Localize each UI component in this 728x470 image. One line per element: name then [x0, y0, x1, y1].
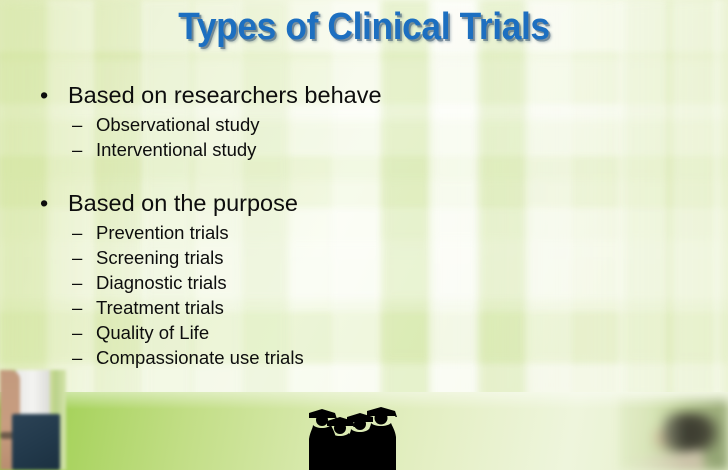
dash-icon: – — [72, 270, 82, 295]
bullet-level1-label: Based on researchers behave — [68, 82, 382, 108]
dash-icon: – — [72, 112, 82, 137]
slide: Types of Clinical Trials • Based on rese… — [0, 0, 728, 470]
dash-icon: – — [72, 137, 82, 162]
dash-icon: – — [72, 220, 82, 245]
graduates-silhouette — [305, 392, 415, 470]
bullet-level2: – Compassionate use trials — [0, 345, 560, 370]
bullet-dot-icon: • — [40, 188, 48, 218]
bullet-level2: – Observational study — [0, 112, 560, 137]
bullet-level2: – Quality of Life — [0, 320, 560, 345]
section-spacer — [0, 162, 560, 188]
bullet-level2-label: Prevention trials — [96, 222, 229, 243]
bullet-level2-label: Quality of Life — [96, 322, 209, 343]
dash-icon: – — [72, 245, 82, 270]
bullet-level1: • Based on researchers behave — [0, 80, 560, 110]
bullet-level1: • Based on the purpose — [0, 188, 560, 218]
dash-icon: – — [72, 320, 82, 345]
slide-title: Types of Clinical Trials — [25, 6, 702, 49]
blurred-scene-photo — [620, 398, 728, 470]
slide-body: • Based on researchers behave – Observat… — [0, 80, 560, 370]
bullet-level2-label: Interventional study — [96, 139, 256, 160]
bullet-level1-label: Based on the purpose — [68, 190, 298, 216]
bullet-level2-label: Screening trials — [96, 247, 224, 268]
person-photo — [0, 370, 66, 470]
dash-icon: – — [72, 345, 82, 370]
bullet-level2-label: Treatment trials — [96, 297, 224, 318]
bullet-level2: – Interventional study — [0, 137, 560, 162]
bullet-level2-label: Observational study — [96, 114, 260, 135]
bullet-dot-icon: • — [40, 80, 48, 110]
bullet-level2: – Diagnostic trials — [0, 270, 560, 295]
bullet-level2: – Prevention trials — [0, 220, 560, 245]
bullet-level2: – Screening trials — [0, 245, 560, 270]
dash-icon: – — [72, 295, 82, 320]
bullet-level2-label: Compassionate use trials — [96, 347, 304, 368]
bullet-level2-label: Diagnostic trials — [96, 272, 227, 293]
bullet-level2: – Treatment trials — [0, 295, 560, 320]
